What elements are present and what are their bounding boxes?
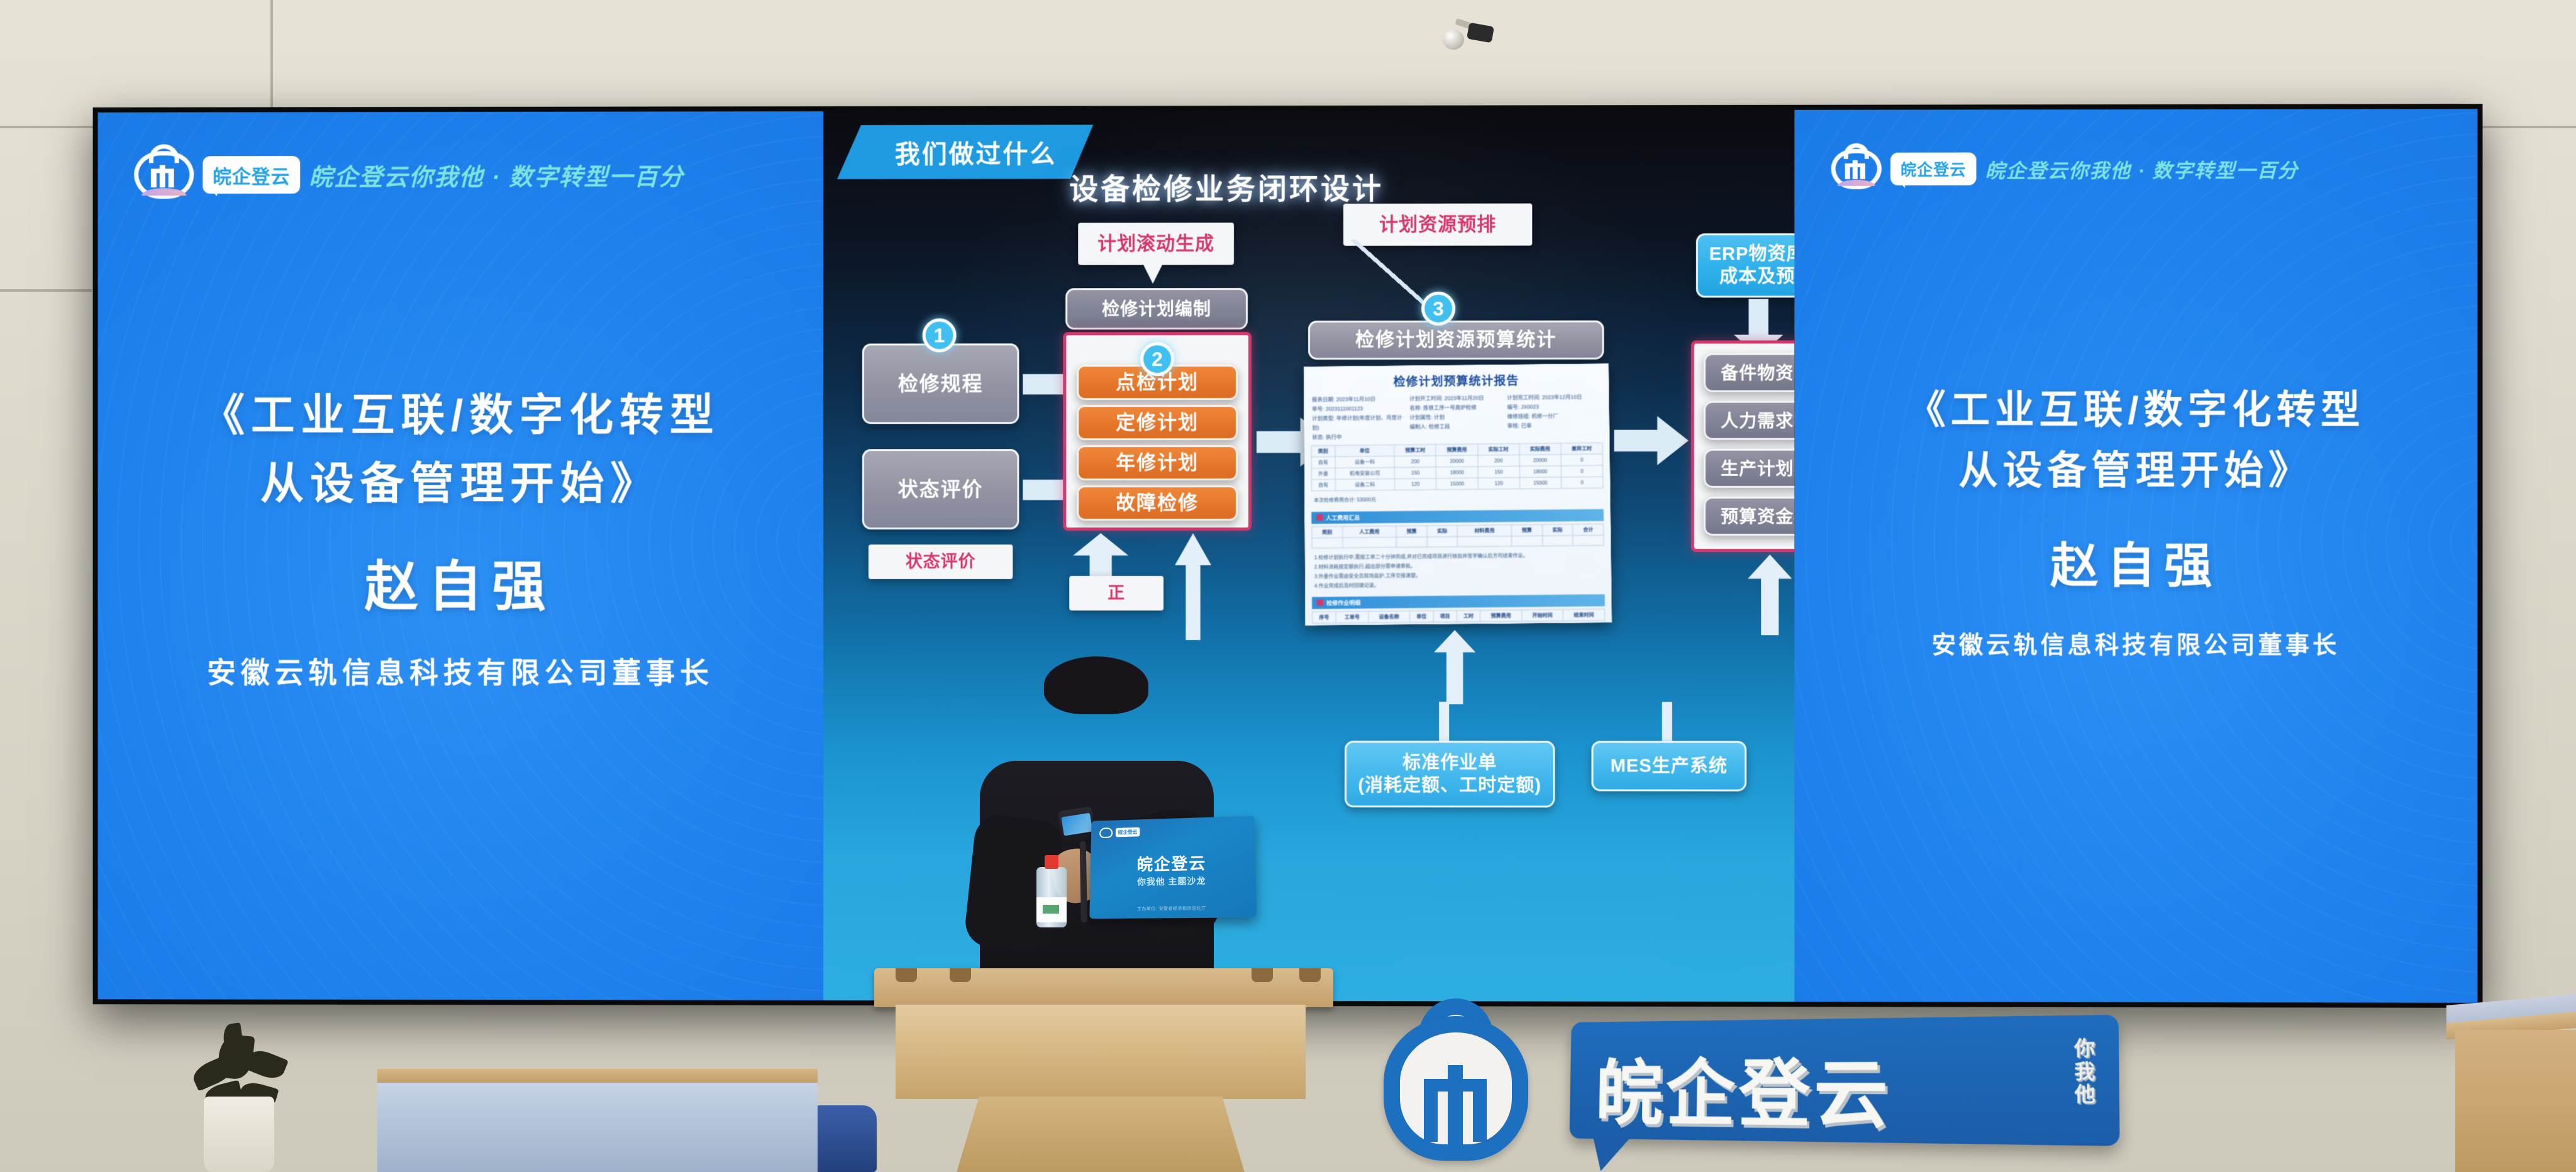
sheet-subtotal: 本次检修费用合计: 53000元	[1305, 491, 1610, 509]
callout-condition-assessment: 状态评价	[869, 545, 1013, 579]
front-desk-right	[2446, 1000, 2576, 1172]
laptop-brand-chip: 皖企登云	[1116, 827, 1140, 838]
panel-title-line2: 从设备管理开始》	[1794, 441, 2477, 502]
callout-hidden-partial: 正	[1069, 576, 1163, 611]
laptop-footer: 主办单位: 安徽省经济和信息化厅	[1090, 905, 1257, 913]
callout-rolling-plan: 计划滚动生成	[1078, 223, 1234, 265]
erp-line1: ERP物资库存	[1709, 243, 1795, 265]
speaker-name: 赵自强	[1794, 527, 2477, 596]
cloud-logo-3d-icon	[1384, 1016, 1528, 1161]
table-row: 自有设备二科 12015000 12015000 0	[1311, 477, 1603, 492]
node-check-1: 人力需求检查	[1704, 401, 1794, 440]
sign-plate: 皖企登云 你 我 他	[1569, 1015, 2119, 1146]
brand-row-right: 皖企登云 皖企登云你我他 · 数字转型一百分	[1831, 148, 2299, 189]
potted-plant	[182, 1024, 296, 1172]
sow-line1: 标准作业单	[1402, 751, 1497, 774]
step-badge-3: 3	[1421, 292, 1455, 326]
sheet-title: 检修计划预算统计报告	[1304, 364, 1609, 394]
laptop-sub-text: 你我他 主题沙龙	[1090, 874, 1256, 889]
sign-small-text: 你 我 他	[2074, 1037, 2096, 1107]
sheet-table-3: 序号工单号 设备名称单位 项目工时 预算费用开始时间 结束时间	[1312, 609, 1605, 624]
laptop-main-text: 皖企登云	[1091, 849, 1256, 876]
cloud-logo-icon	[134, 151, 194, 199]
sheet-notes: 1.检修计划执行中,需按工单二十分钟完成,并对已完成项目进行核验并签字确认后方可…	[1306, 548, 1611, 594]
table-row	[1312, 535, 1604, 548]
node-erp-inventory: ERP物资库存 成本及预算	[1696, 233, 1794, 297]
arrow-budget-to-check	[1614, 416, 1689, 465]
node-plan-compilation: 检修计划编制	[1065, 288, 1248, 329]
speaker-podium	[874, 968, 1333, 1172]
arrow-up-to-check	[1748, 555, 1792, 635]
left-title-panel: 皖企登云 皖企登云你我他 · 数字转型一百分 《工业互联/数字化转型 从设备管理…	[98, 111, 824, 1000]
sow-line2: (消耗定额、工时定额)	[1358, 774, 1541, 797]
led-video-wall: 皖企登云 皖企登云你我他 · 数字转型一百分 《工业互联/数字化转型 从设备管理…	[93, 104, 2483, 1008]
laptop-screen: 皖企登云 皖企登云 你我他 主题沙龙 主办单位: 安徽省经济和信息化厅	[1089, 816, 1257, 919]
right-title-panel: 皖企登云 皖企登云你我他 · 数字转型一百分 《工业互联/数字化转型 从设备管理…	[1794, 109, 2477, 1003]
brand-chip: 皖企登云	[1890, 153, 1977, 185]
front-desk-left	[377, 1069, 818, 1172]
sheet-table-1: 类别单位 预算工时预算费用 实际工时实际费用 差异工时 自有设备一科 20020…	[1311, 443, 1603, 492]
panel-title-line2: 从设备管理开始》	[98, 450, 824, 517]
node-condition-assessment: 状态评价	[862, 449, 1019, 529]
surveillance-camera-icon	[1440, 16, 1484, 50]
node-mes-system: MES生产系统	[1591, 741, 1746, 791]
brand-chip: 皖企登云	[203, 156, 300, 194]
node-budget-statistics: 检修计划资源预算统计	[1308, 321, 1604, 360]
brand-slogan: 皖企登云你我他 · 数字转型一百分	[1985, 154, 2299, 183]
arrow-up-to-budget	[1434, 630, 1475, 704]
node-standard-work-order: 标准作业单 (消耗定额、工时定额)	[1345, 741, 1555, 807]
bottom-connector-1	[1439, 702, 1449, 741]
step-badge-1: 1	[923, 318, 957, 352]
brand-slogan: 皖企登云你我他 · 数字转型一百分	[309, 157, 684, 192]
erp-line2: 成本及预算	[1719, 265, 1794, 288]
node-inspection-standard: 检修规程	[862, 343, 1019, 424]
speaker-org: 安徽云轨信息科技有限公司董事长	[1794, 625, 2477, 660]
arrow-up-to-plan-b	[1175, 533, 1211, 640]
sheet-section-3: 检修作业明细	[1312, 594, 1605, 609]
sign-main-text: 皖企登云	[1595, 1033, 1892, 1142]
slide-title: 设备检修业务闭环设计	[823, 165, 1713, 208]
node-plan-item-1: 定修计划	[1077, 405, 1238, 440]
sheet-section-2: 人工费用汇总	[1311, 509, 1604, 524]
sheet-table-2: 类别人工费用 预算实际 材料费用预算 实际合计	[1311, 524, 1604, 549]
panel-title-block: 《工业互联/数字化转型 从设备管理开始》 赵自强 安徽云轨信息科技有限公司董事长	[98, 381, 824, 691]
step-badge-2: 2	[1140, 342, 1174, 376]
laptop-logo: 皖企登云	[1099, 827, 1140, 838]
conference-room-photo: 皖企登云 皖企登云你我他 · 数字转型一百分 《工业互联/数字化转型 从设备管理…	[0, 0, 2576, 1172]
water-bottle	[1036, 855, 1067, 927]
node-plan-item-2: 年修计划	[1077, 445, 1238, 480]
budget-report-screenshot: 检修计划预算统计报告 报表日期: 2023年11月10日 单号: 2023111…	[1304, 363, 1612, 626]
speaker-org: 安徽云轨信息科技有限公司董事长	[98, 650, 824, 691]
node-plan-item-3: 故障检修	[1077, 485, 1238, 521]
panel-title-line1: 《工业互联/数字化转型	[98, 381, 824, 450]
node-check-2: 生产计划检查	[1704, 449, 1794, 488]
bottom-connector-2	[1662, 702, 1672, 741]
callout-resource-preschedule: 计划资源预排	[1343, 204, 1532, 246]
panel-title-block: 《工业互联/数字化转型 从设备管理开始》 赵自强 安徽云轨信息科技有限公司董事长	[1794, 380, 2477, 660]
brand-row-left: 皖企登云 皖企登云你我他 · 数字转型一百分	[134, 150, 684, 199]
speaker-name: 赵自强	[98, 543, 824, 621]
node-check-0: 备件物资需求	[1704, 353, 1794, 392]
node-check-3: 预算资金检查	[1704, 497, 1794, 536]
wall-tile-seam	[0, 289, 92, 292]
sheet-meta: 报表日期: 2023年11月10日 单号: 2023111001123 计划类型…	[1304, 391, 1609, 443]
cloud-logo-icon	[1831, 149, 1882, 189]
panel-title-line1: 《工业互联/数字化转型	[1794, 380, 2477, 441]
podium-brand-sign: 皖企登云 你 我 他	[1377, 1003, 2119, 1172]
presentation-slide: 我们做过什么 设备检修业务闭环设计 1 检修规程 状态评价 状态评价 计划滚动生…	[823, 110, 1794, 1002]
